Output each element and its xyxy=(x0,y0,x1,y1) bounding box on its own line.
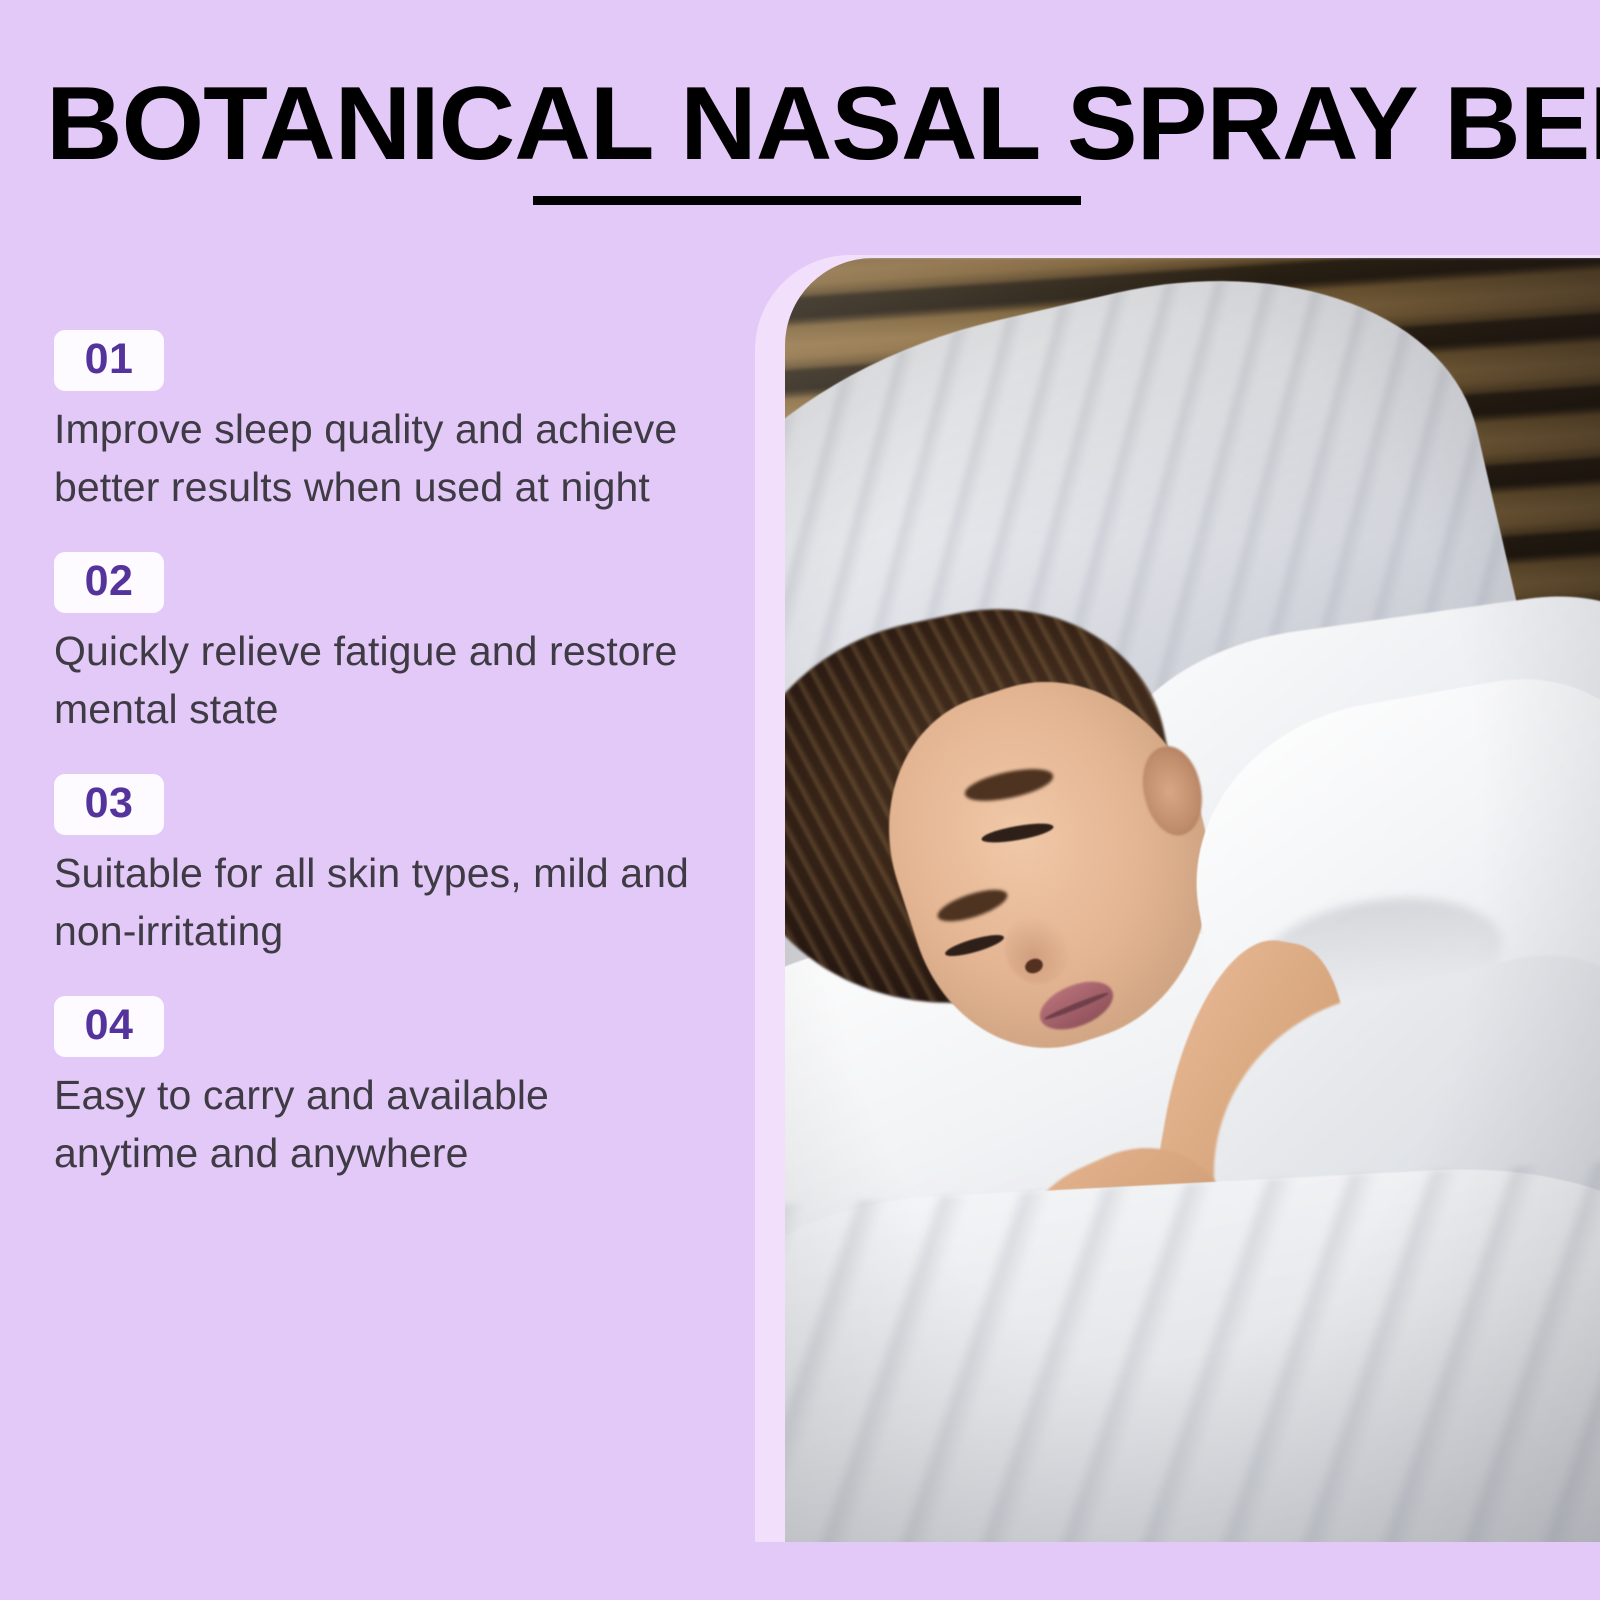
benefits-list: 01 Improve sleep quality and achieve bet… xyxy=(54,330,714,1218)
benefit-item: 02 Quickly relieve fatigue and restore m… xyxy=(54,552,714,738)
title-underline-rule xyxy=(533,196,1081,205)
photo-vignette xyxy=(785,258,1600,1542)
benefit-text: Suitable for all skin types, mild and no… xyxy=(54,844,704,960)
infographic-canvas: BOTANICAL NASAL SPRAY BENEFITS 01 Improv… xyxy=(0,0,1600,1600)
benefit-number: 04 xyxy=(70,1003,148,1048)
benefit-number-badge: 03 xyxy=(54,774,164,835)
benefit-text: Easy to carry and available anytime and … xyxy=(54,1066,704,1182)
benefit-item: 01 Improve sleep quality and achieve bet… xyxy=(54,330,714,516)
benefit-number: 03 xyxy=(70,781,148,826)
page-title: BOTANICAL NASAL SPRAY BENEFITS xyxy=(46,72,1576,176)
benefit-number: 01 xyxy=(70,337,148,382)
benefit-number-badge: 01 xyxy=(54,330,164,391)
benefit-number-badge: 04 xyxy=(54,996,164,1057)
benefit-item: 03 Suitable for all skin types, mild and… xyxy=(54,774,714,960)
benefit-text: Quickly relieve fatigue and restore ment… xyxy=(54,622,704,738)
benefit-text: Improve sleep quality and achieve better… xyxy=(54,400,704,516)
sleeping-woman-photo xyxy=(785,258,1600,1542)
title-block: BOTANICAL NASAL SPRAY BENEFITS xyxy=(46,72,1546,182)
benefit-item: 04 Easy to carry and available anytime a… xyxy=(54,996,714,1182)
benefit-number: 02 xyxy=(70,559,148,604)
benefit-number-badge: 02 xyxy=(54,552,164,613)
